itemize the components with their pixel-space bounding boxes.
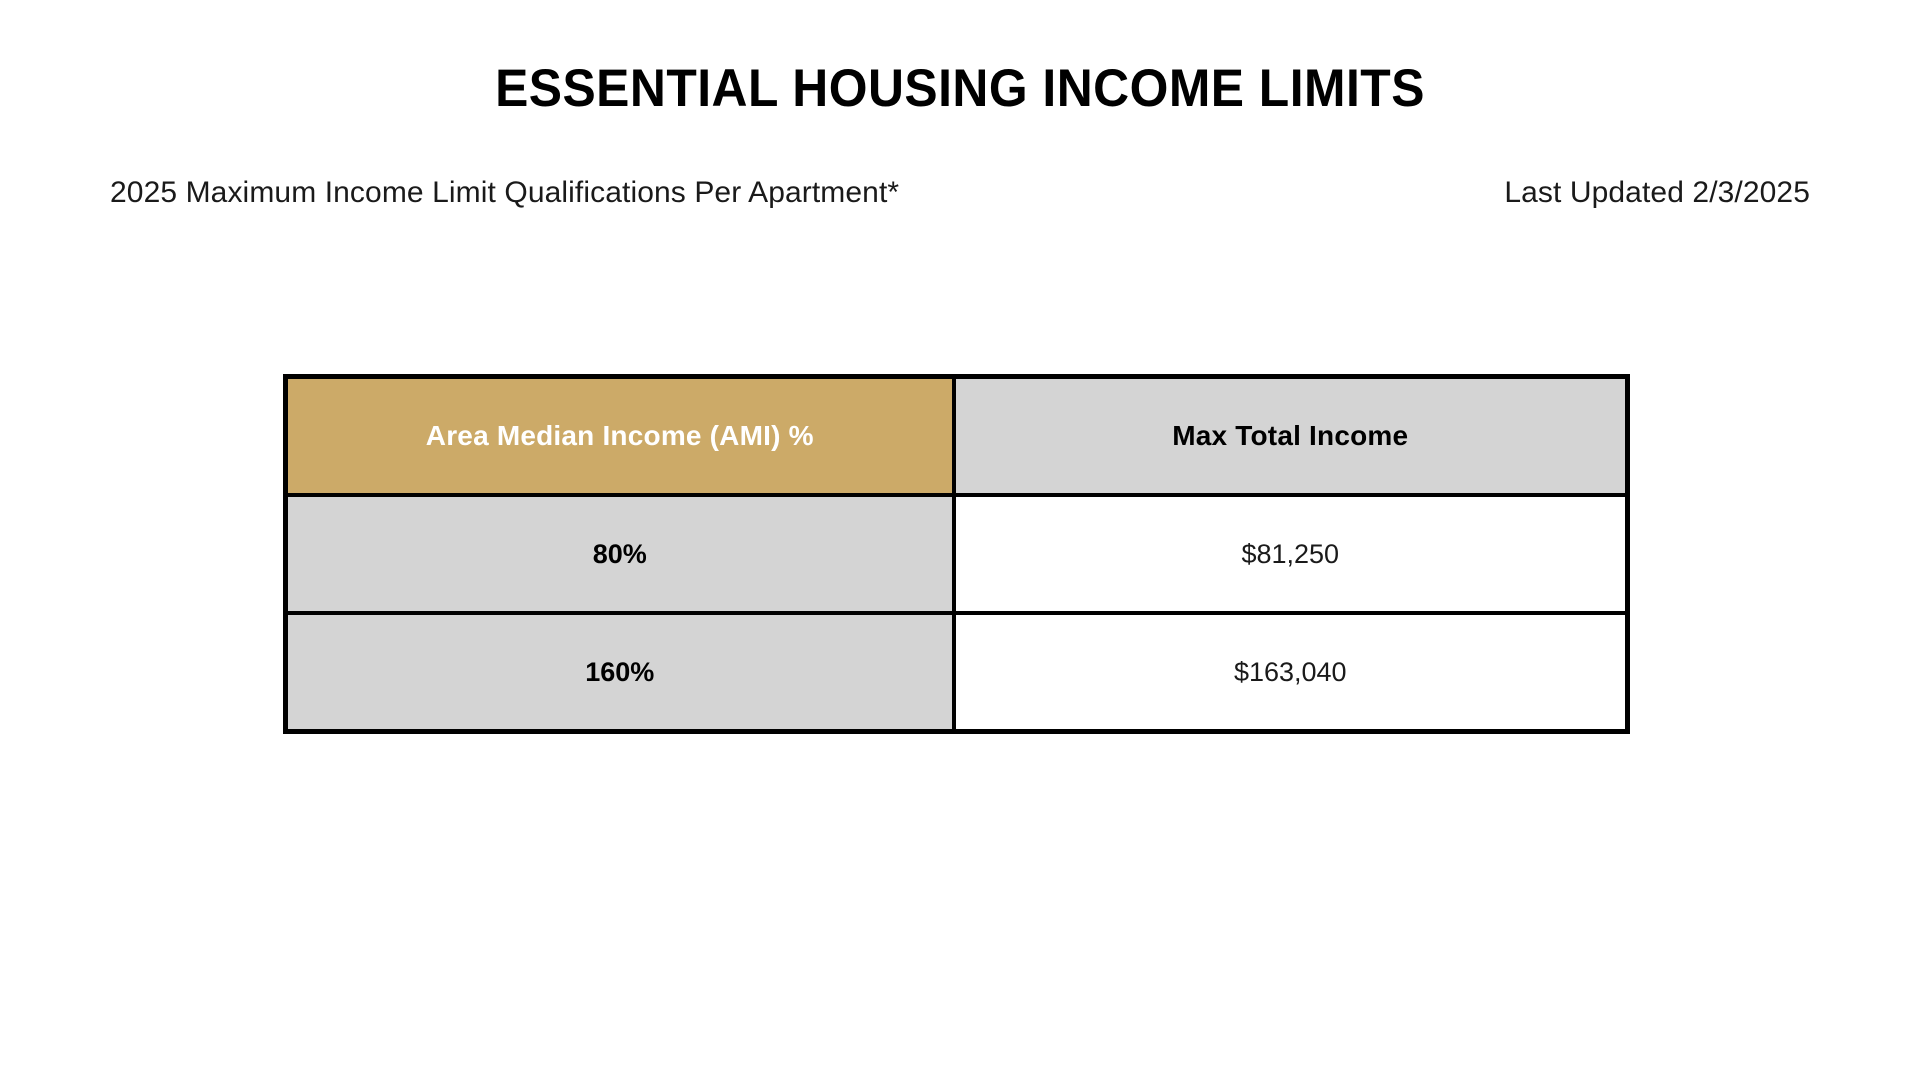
- cell-ami-percent-value: 160%: [288, 657, 952, 688]
- table-header: Area Median Income (AMI) % Max Total Inc…: [286, 377, 1628, 496]
- cell-ami-percent: 80%: [286, 495, 954, 613]
- cell-max-total-income: $163,040: [954, 613, 1628, 732]
- cell-max-total-income: $81,250: [954, 495, 1628, 613]
- table-row: 160% $163,040: [286, 613, 1628, 732]
- income-limits-table: Area Median Income (AMI) % Max Total Inc…: [283, 374, 1630, 734]
- subtitle-text: 2025 Maximum Income Limit Qualifications…: [110, 176, 899, 210]
- page-title: ESSENTIAL HOUSING INCOME LIMITS: [58, 60, 1863, 118]
- subtitle-row: 2025 Maximum Income Limit Qualifications…: [110, 176, 1810, 220]
- last-updated-text: Last Updated 2/3/2025: [1504, 176, 1810, 210]
- cell-max-total-income-value: $163,040: [956, 657, 1626, 688]
- cell-max-total-income-value: $81,250: [956, 539, 1626, 570]
- cell-ami-percent-value: 80%: [288, 539, 952, 570]
- column-header-ami: Area Median Income (AMI) %: [286, 377, 954, 496]
- column-header-max-total-income: Max Total Income: [954, 377, 1628, 496]
- table-row: 80% $81,250: [286, 495, 1628, 613]
- column-header-ami-label: Area Median Income (AMI) %: [288, 420, 952, 452]
- table-body: 80% $81,250 160% $163,040: [286, 495, 1628, 732]
- table-header-row: Area Median Income (AMI) % Max Total Inc…: [286, 377, 1628, 496]
- page-root: ESSENTIAL HOUSING INCOME LIMITS 2025 Max…: [0, 0, 1920, 1080]
- income-limits-table-container: Area Median Income (AMI) % Max Total Inc…: [283, 374, 1625, 734]
- column-header-max-total-income-label: Max Total Income: [956, 420, 1626, 452]
- cell-ami-percent: 160%: [286, 613, 954, 732]
